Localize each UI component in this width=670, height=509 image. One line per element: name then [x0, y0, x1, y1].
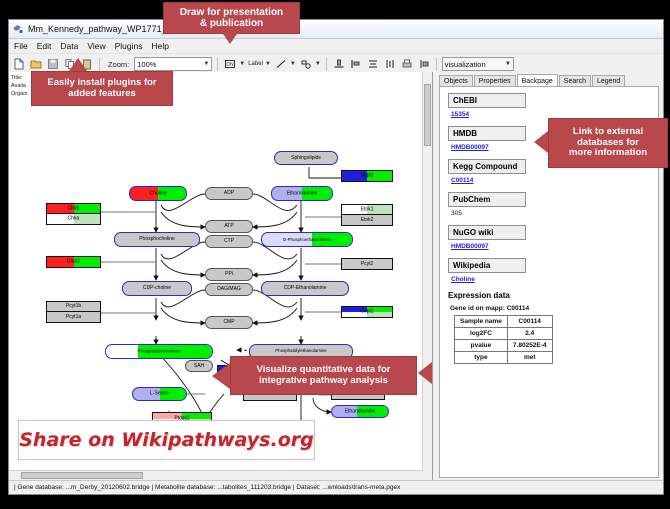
screenshot-root: Mm_Kennedy_pathway_WP1771_45176.gpml Fil…	[0, 0, 670, 509]
callout-plugins-line2: added features	[68, 89, 136, 100]
callout-links-line1: Link to external	[573, 127, 643, 138]
canvas-horizontal-scrollbar[interactable]	[9, 470, 423, 480]
chevron-down-icon-line[interactable]: ▼	[290, 61, 296, 67]
node-label: CTP	[224, 239, 234, 244]
backpage-header-hmdb: HMDB	[448, 126, 526, 141]
tab-label: Legend	[597, 78, 620, 85]
node-label: Pcyt1a	[66, 315, 81, 320]
distribute-vertical-icon[interactable]	[366, 57, 380, 71]
toolbar-separator-3	[326, 58, 327, 71]
toolbar-separator	[99, 58, 100, 71]
canvas-hscroll-thumb[interactable]	[21, 472, 143, 479]
chevron-down-icon: ▼	[203, 61, 209, 67]
shape-icon[interactable]	[299, 57, 313, 71]
node-label: Chpt1	[47, 260, 100, 265]
window-titlebar: Mm_Kennedy_pathway_WP1771_45176.gpml	[9, 20, 663, 39]
node-label: O-Phosphoethanolamine	[262, 237, 352, 241]
pathway-gene-cept1[interactable]: Cept1	[341, 306, 393, 318]
table-row: pvalue 7.80252E-4	[455, 340, 553, 352]
table-cell-name: type	[455, 352, 508, 364]
pathway-node-dagmag[interactable]: DAG/MAG	[205, 283, 253, 296]
pathway-gene-etnk1[interactable]: Etnk1	[341, 204, 393, 215]
callout-links-line3: more information	[569, 148, 647, 159]
align-left-icon[interactable]	[349, 57, 363, 71]
callout-visualize-line1: Visualize quantitative data for	[257, 365, 391, 376]
expression-data-table: Sample name C00114 log2FC 2.4 pvalue 7.8…	[454, 315, 553, 364]
canvas-vertical-scrollbar[interactable]	[422, 72, 432, 480]
chevron-down-icon-datanode[interactable]: ▼	[239, 61, 245, 67]
node-label: Pcyt2	[361, 262, 374, 267]
pathway-node-sphingolipids[interactable]: Sphingolipids	[274, 151, 338, 165]
tab-label: Backpage	[522, 78, 553, 85]
node-label: ATP	[224, 224, 233, 229]
callout-links-arrow	[534, 131, 548, 153]
chevron-down-icon-shape[interactable]: ▼	[315, 61, 321, 67]
node-label: CDP-choline	[143, 286, 171, 291]
pathway-node-cmp[interactable]: CMP	[205, 316, 253, 329]
node-label: Phosphatidylcholines	[106, 349, 212, 354]
node-label: Sphingolipids	[291, 156, 321, 161]
zoom-combo[interactable]: 100% ▼	[134, 57, 212, 71]
statusbar: | Gene database: ...m_Derby_20120602.bri…	[9, 480, 663, 494]
backpage-header-pubchem: PubChem	[448, 192, 526, 207]
new-icon[interactable]	[12, 57, 26, 71]
pathway-info-organism: Organi	[11, 90, 28, 98]
pathway-node-adp[interactable]: ADP	[205, 187, 253, 200]
node-label: Choline	[130, 191, 186, 196]
backpage-header-chebi: ChEBI	[448, 93, 526, 108]
pathway-info: Title: Availa Organi	[11, 74, 28, 98]
pathway-info-availability: Availa	[11, 82, 28, 90]
node-label: L-Serine	[133, 392, 186, 397]
pathway-node-sah[interactable]: SAH	[185, 360, 213, 372]
pathway-node-ethanolamine-top[interactable]: Ethanolamine	[271, 186, 333, 201]
tab-label: Objects	[444, 78, 468, 85]
zoom-label: Zoom:	[108, 60, 129, 69]
visualization-combo[interactable]: visualization ▼	[442, 57, 514, 71]
callout-draw-line1: Draw for presentation	[180, 7, 283, 19]
table-cell-value: C00114	[507, 316, 552, 328]
menu-plugins[interactable]: Plugins	[115, 41, 143, 51]
backpage-value-pubchem: 305	[451, 210, 650, 217]
table-cell-value: 7.80252E-4	[507, 340, 552, 352]
toolbar-separator-2	[217, 58, 218, 71]
callout-links: Link to external databases for more info…	[548, 118, 668, 168]
pathway-gene-sgpl1[interactable]: Sgpl1	[341, 170, 393, 182]
menu-help[interactable]: Help	[152, 41, 169, 51]
chevron-down-icon-label[interactable]: ▼	[265, 61, 271, 67]
callout-plugins-arrow	[69, 58, 87, 71]
callout-plugins-line1: Easily install plugins for	[47, 78, 156, 89]
node-label: Chka	[47, 217, 100, 222]
backpage-link-nugo[interactable]: HMDB00097	[451, 243, 650, 250]
pathway-node-ctp[interactable]: CTP	[205, 235, 253, 248]
tab-label: Properties	[479, 78, 511, 85]
pathway-node-o-phosphoethanolamine[interactable]: O-Phosphoethanolamine	[261, 232, 353, 247]
callout-share-text: Share on Wikipathways.org	[19, 429, 313, 451]
order-icon[interactable]	[417, 57, 431, 71]
node-label: Pcyt1b	[66, 304, 81, 309]
callout-visualize-line2: integrative pathway analysis	[259, 376, 388, 387]
tab-label: Search	[564, 78, 586, 85]
label-tool-label[interactable]: Label	[248, 61, 263, 67]
pathway-gene-pcyt2[interactable]: Pcyt2	[341, 258, 393, 270]
print-icon[interactable]	[400, 57, 414, 71]
node-label: DAG/MAG	[217, 287, 241, 292]
pathway-info-title: Title:	[11, 74, 28, 82]
pathway-gene-chpt1[interactable]: Chpt1	[46, 256, 101, 268]
gene-id-on-mapp: Gene id on mapp: C00114	[450, 305, 650, 312]
table-row: log2FC 2.4	[455, 328, 553, 340]
callout-expression-arrow	[418, 362, 432, 384]
zoom-value: 100%	[137, 60, 156, 69]
table-row: Sample name C00114	[455, 316, 553, 328]
node-label: CDP-Ethanolamine	[284, 286, 327, 291]
pathway-node-phosphocholine[interactable]: Phosphocholine	[114, 232, 200, 247]
table-cell-name: Sample name	[455, 316, 508, 328]
node-label: Sgpl1	[342, 174, 392, 179]
node-label: ADP	[224, 191, 234, 196]
toolbar-separator-4	[436, 58, 437, 71]
pathway-gene-pcyt1a[interactable]: Pcyt1a	[46, 312, 101, 323]
table-row: type met	[455, 352, 553, 364]
menu-data[interactable]: Data	[60, 41, 78, 51]
table-cell-name: pvalue	[455, 340, 508, 352]
callout-draw-line2: & publication	[200, 18, 263, 30]
visualization-value: visualization	[445, 60, 486, 69]
pathway-canvas-panel[interactable]: Title: Availa Organi	[9, 72, 433, 480]
menu-view[interactable]: View	[87, 41, 105, 51]
pathway-gene-chka[interactable]: Chka	[46, 214, 101, 225]
pathway-node-ethanolamine-right[interactable]: Ethanolamine	[331, 405, 389, 418]
backpage-link-kegg[interactable]: C00114	[451, 177, 650, 184]
callout-draw: Draw for presentation & publication	[163, 2, 300, 34]
node-label: Chkb	[47, 206, 100, 211]
callout-visualize-arrow	[212, 363, 230, 389]
menu-file[interactable]: File	[14, 41, 28, 51]
pathway-node-choline-top[interactable]: Choline	[129, 186, 187, 201]
align-bottom-icon[interactable]	[332, 57, 346, 71]
backpage-header-kegg: Kegg Compound	[448, 159, 526, 174]
pathway-node-cdp-choline[interactable]: CDP-choline	[122, 281, 192, 296]
open-icon[interactable]	[29, 57, 43, 71]
pathvisio-icon	[13, 24, 24, 35]
expression-data-title: Expression data	[448, 291, 650, 300]
table-cell-value: 2.4	[507, 328, 552, 340]
pathway-node-atp[interactable]: ATP	[205, 220, 253, 233]
pathway-gene-pcyt1b[interactable]: Pcyt1b	[46, 301, 101, 312]
table-cell-name: log2FC	[455, 328, 508, 340]
pathway-canvas[interactable]: Sphingolipids Choline Ethanolamine ADP	[9, 72, 432, 480]
node-label: Ethanolamine	[332, 409, 388, 414]
node-label: Cept1	[342, 310, 392, 315]
node-label: Ethanolamine	[272, 191, 332, 196]
pathway-gene-etnk2[interactable]: Etnk2	[341, 215, 393, 226]
callout-plugins: Easily install plugins for added feature…	[31, 71, 173, 106]
node-label: Phosphocholine	[139, 237, 175, 242]
svg-text:DN: DN	[227, 62, 235, 68]
table-cell-value: met	[507, 352, 552, 364]
node-label: SAH	[194, 364, 204, 369]
backpage-link-chebi[interactable]: 15354	[451, 111, 650, 118]
pathway-gene-chkb[interactable]: Chkb	[46, 203, 101, 214]
chevron-down-icon-visualization: ▼	[505, 61, 511, 67]
datanode-icon[interactable]: DN	[223, 57, 237, 71]
line-icon[interactable]	[274, 57, 288, 71]
node-label: Etnk1	[342, 207, 392, 212]
pathway-node-phosphatidylcholines[interactable]: Phosphatidylcholines	[105, 344, 213, 359]
callout-draw-arrow	[221, 31, 239, 44]
pathway-node-cdp-ethanolamine[interactable]: CDP-Ethanolamine	[261, 281, 349, 296]
node-label: PPi	[225, 272, 233, 277]
save-icon[interactable]	[46, 57, 60, 71]
node-label: Phosphatidylethanolamine	[275, 349, 327, 353]
backpage-header-nugo: NuGO wiki	[448, 225, 526, 240]
statusbar-text: | Gene database: ...m_Derby_20120602.bri…	[14, 484, 400, 491]
node-label: Etnk2	[361, 218, 374, 223]
callout-share: Share on Wikipathways.org	[18, 420, 315, 460]
callout-visualize: Visualize quantitative data for integrat…	[230, 356, 417, 395]
canvas-vscroll-thumb[interactable]	[424, 84, 431, 146]
menubar: File Edit Data View Plugins Help	[9, 39, 663, 54]
backpage-link-wikipedia[interactable]: Choline	[451, 276, 650, 283]
node-label: CMP	[223, 320, 234, 325]
menu-edit[interactable]: Edit	[37, 41, 52, 51]
pathway-node-ppi[interactable]: PPi	[205, 268, 253, 281]
distribute-horizontal-icon[interactable]	[383, 57, 397, 71]
backpage-header-wikipedia: Wikipedia	[448, 258, 526, 273]
pathway-node-l-serine-left[interactable]: L-Serine	[132, 387, 187, 401]
